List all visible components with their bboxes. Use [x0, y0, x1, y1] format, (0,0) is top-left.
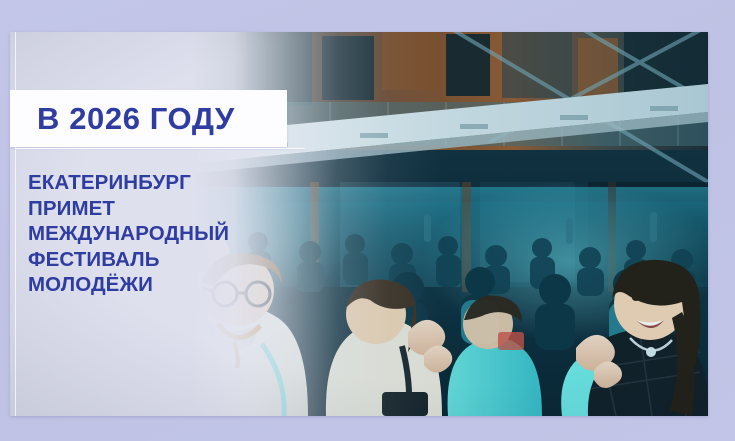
slide-card: В 2026 ГОДУ ЕКАТЕРИНБУРГ ПРИМЕТ МЕЖДУНАР… [10, 32, 708, 416]
festival-crowd-photo [10, 32, 708, 416]
slide-stage: В 2026 ГОДУ ЕКАТЕРИНБУРГ ПРИМЕТ МЕЖДУНАР… [0, 0, 735, 441]
